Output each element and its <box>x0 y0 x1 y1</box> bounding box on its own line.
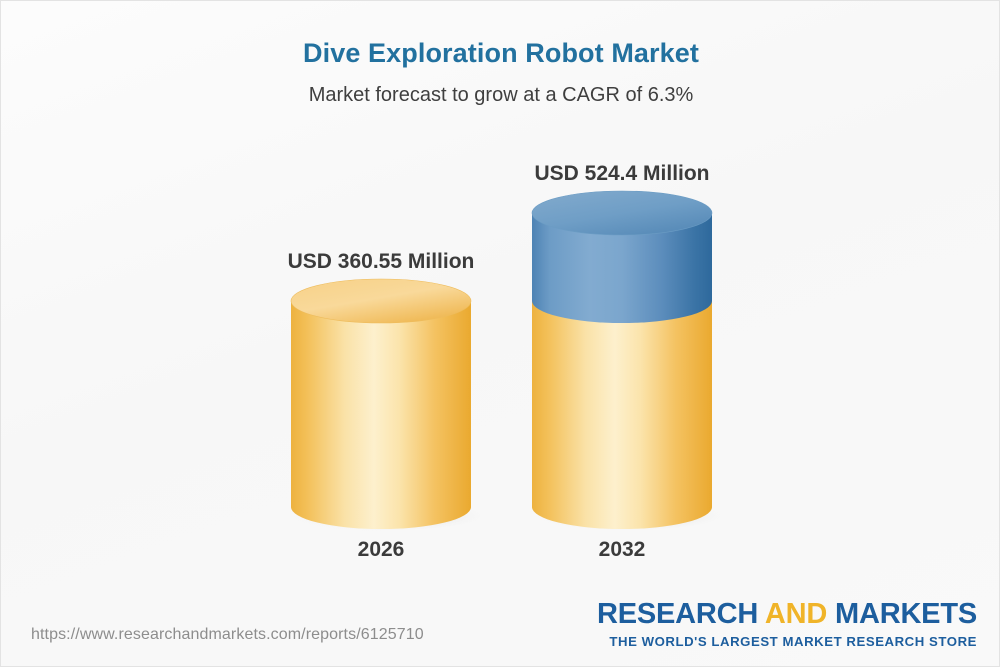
bar-group-2032[interactable]: USD 524.4 Million <box>504 161 740 557</box>
logo-tagline: THE WORLD'S LARGEST MARKET RESEARCH STOR… <box>597 635 977 648</box>
logo-wordmark: RESEARCH AND MARKETS <box>597 600 977 629</box>
cylinder-top-2026 <box>291 279 471 323</box>
report-url[interactable]: https://www.researchandmarkets.com/repor… <box>31 626 424 644</box>
infographic-canvas: Dive Exploration Robot Market Market for… <box>0 0 1000 667</box>
cylinder-2026 <box>263 249 499 557</box>
logo-word-markets: MARKETS <box>835 598 977 630</box>
cylinder-2032 <box>504 161 740 557</box>
logo-word-and: AND <box>765 598 827 630</box>
bar-category-label-2026: 2026 <box>263 537 499 563</box>
research-and-markets-logo[interactable]: RESEARCH AND MARKETS THE WORLD'S LARGEST… <box>597 600 977 648</box>
cylinder-base-segment-2032 <box>532 301 712 529</box>
bar-category-label-2032: 2032 <box>504 537 740 563</box>
bar-group-2026[interactable]: USD 360.55 Million <box>263 249 499 557</box>
cylinder-top-2032 <box>532 191 712 235</box>
cylinder-body-2026 <box>291 301 471 529</box>
chart-plot-area: USD 360.55 Million <box>1 1 1000 601</box>
logo-word-research: RESEARCH <box>597 598 758 630</box>
